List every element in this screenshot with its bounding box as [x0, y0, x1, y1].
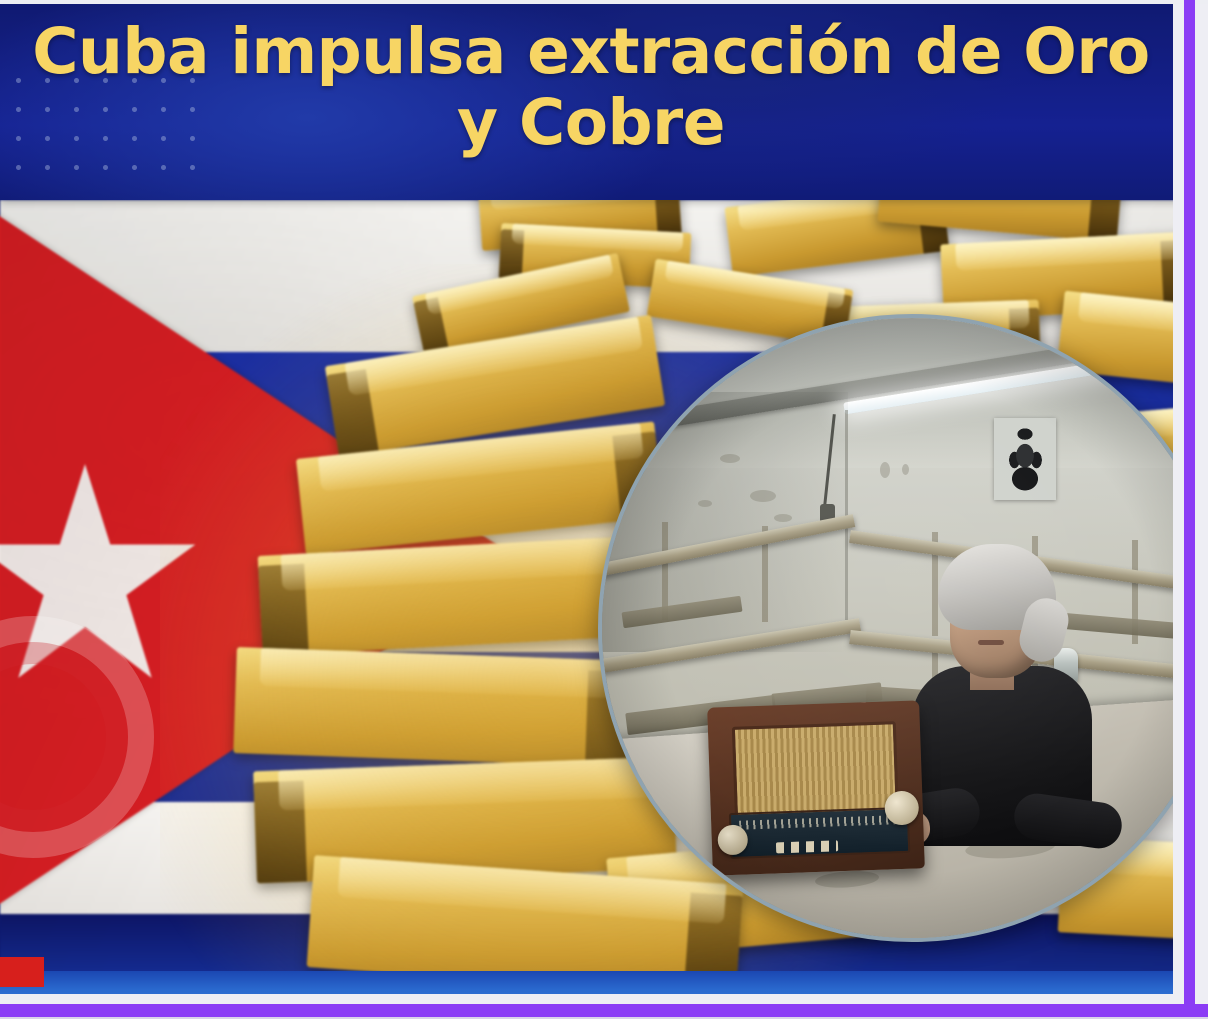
counter-stain	[815, 869, 880, 889]
wall-smudge	[698, 500, 712, 507]
wall-smudge	[880, 462, 890, 478]
che-guevara-portrait-icon	[1001, 424, 1049, 496]
gold-bar	[258, 536, 643, 656]
red-corner-tab	[0, 957, 44, 987]
page-title: Cuba impulsa extracción de Oro y Cobre	[6, 16, 1176, 158]
radio-buttons	[776, 840, 838, 853]
elderly-woman-shopkeeper	[894, 536, 1104, 846]
che-guevara-poster	[994, 418, 1056, 500]
inset-photo-content	[602, 318, 1181, 938]
bottom-gutter	[0, 994, 1208, 1004]
wall-smudge	[750, 490, 776, 502]
top-hairline	[0, 0, 1208, 4]
purple-horizontal-rail	[0, 1004, 1208, 1017]
radio-knob	[884, 790, 919, 825]
empty-store-shelves-photo	[598, 314, 1181, 942]
poster-artboard: Cuba impulsa extracción de Oro y Cobre	[0, 4, 1181, 1005]
woman-mouth	[978, 640, 1004, 645]
purple-vertical-rail	[1184, 0, 1195, 1019]
wall-smudge	[774, 514, 792, 522]
wall-smudge	[720, 454, 740, 463]
gold-bar	[233, 647, 636, 767]
poster-frame: Cuba impulsa extracción de Oro y Cobre	[0, 0, 1208, 1019]
right-gutter	[1173, 0, 1184, 1019]
radio-dial-scale	[739, 815, 899, 830]
wall-smudge	[902, 464, 909, 475]
vintage-tube-radio	[707, 700, 925, 875]
